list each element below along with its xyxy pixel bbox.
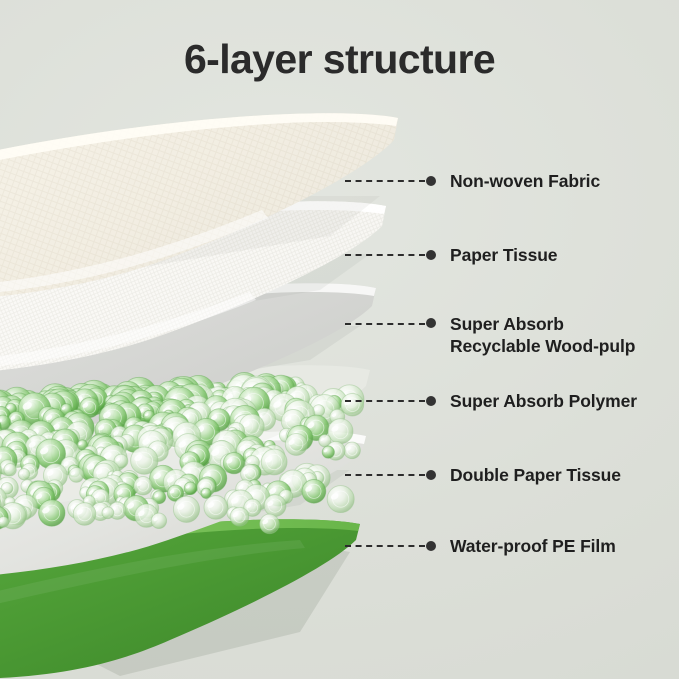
callout-label: Super Absorb Recyclable Wood-pulp xyxy=(450,313,635,357)
callout-label: Paper Tissue xyxy=(450,244,557,266)
callout-super-absorb-recyclable-wood-pulp: Super Absorb Recyclable Wood-pulp xyxy=(345,313,635,357)
leader-dot-icon xyxy=(426,470,436,480)
callout-label: Super Absorb Polymer xyxy=(450,390,637,412)
leader-dot-icon xyxy=(426,396,436,406)
leader-dot-icon xyxy=(426,541,436,551)
callout-water-proof-pe-film: Water-proof PE Film xyxy=(345,535,616,557)
leader-dot-icon xyxy=(426,318,436,328)
callout-super-absorb-polymer: Super Absorb Polymer xyxy=(345,390,637,412)
callout-paper-tissue: Paper Tissue xyxy=(345,244,557,266)
leader-dot-icon xyxy=(426,250,436,260)
leader-line-icon xyxy=(345,545,425,547)
leader-dot-icon xyxy=(426,176,436,186)
leader-line-icon xyxy=(345,180,425,182)
callout-non-woven-fabric: Non-woven Fabric xyxy=(345,170,600,192)
leader-line-icon xyxy=(345,474,425,476)
leader-line-icon xyxy=(345,254,425,256)
callout-label: Non-woven Fabric xyxy=(450,170,600,192)
leader-line-icon xyxy=(345,400,425,402)
diagram-canvas: 6-layer structure xyxy=(0,0,679,679)
callout-double-paper-tissue: Double Paper Tissue xyxy=(345,464,621,486)
callout-label: Double Paper Tissue xyxy=(450,464,621,486)
callout-list: Non-woven Fabric Paper Tissue Super Abso… xyxy=(0,0,679,679)
callout-label: Water-proof PE Film xyxy=(450,535,616,557)
leader-line-icon xyxy=(345,323,425,325)
